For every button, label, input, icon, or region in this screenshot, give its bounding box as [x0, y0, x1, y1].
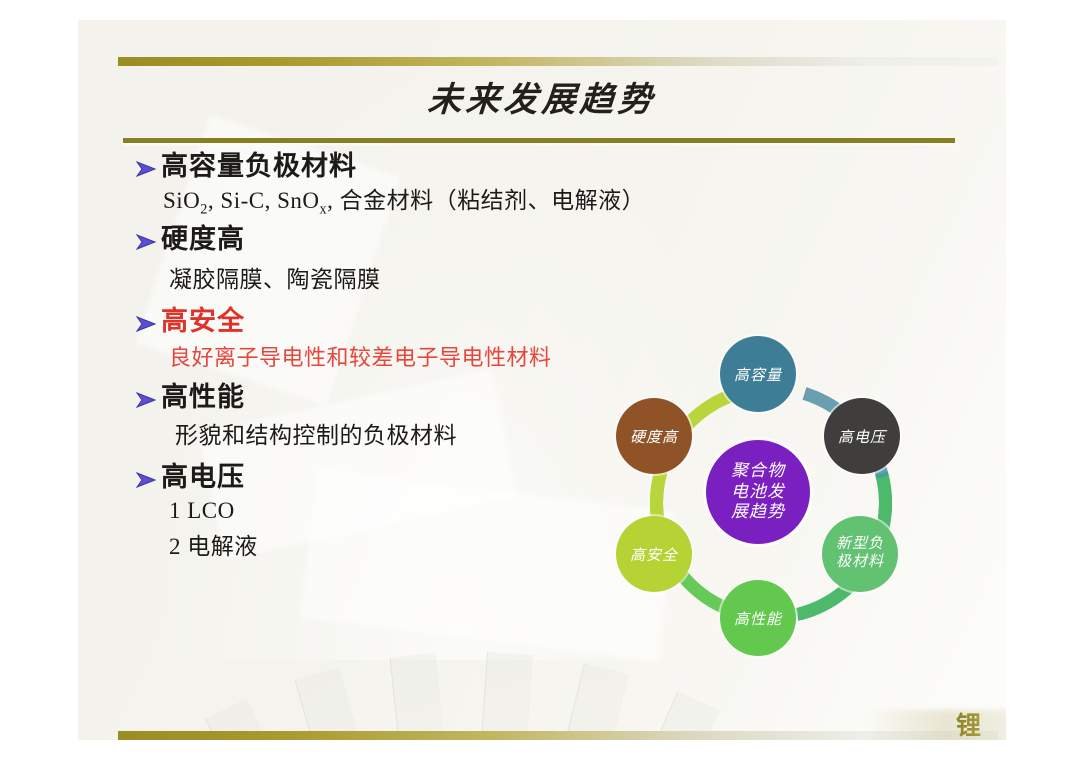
slide-canvas: 未来发展趋势 高容量负极材料 SiO2, Si-C, SnOx, 合金材料（粘结…: [78, 20, 1006, 740]
bullet-heading-highlight: 高安全: [161, 305, 245, 339]
bullet-subtext: 凝胶隔膜、陶瓷隔膜: [133, 265, 693, 295]
watermark: 锂电联盟会长: [906, 706, 1006, 740]
node-label: 新型负: [836, 536, 884, 554]
node-label: 高电压: [838, 426, 886, 447]
diagram-node-high-capacity[interactable]: 高容量: [720, 336, 796, 412]
node-label-second: 极材料: [836, 554, 884, 572]
bullet-arrow-icon: [133, 314, 161, 344]
diagram-node-high-voltage[interactable]: 高电压: [824, 398, 900, 474]
diagram-node-high-hardness[interactable]: 硬度高: [616, 398, 692, 474]
bullet-arrow-icon: [133, 470, 161, 500]
bullet-arrow-icon: [133, 232, 161, 262]
center-line-1: 聚合物: [731, 461, 785, 482]
diagram-node-high-performance[interactable]: 高性能: [720, 580, 796, 656]
node-label: 高性能: [734, 608, 782, 629]
bullet-heading: 硬度高: [161, 223, 245, 257]
formula-sub-x: x: [320, 201, 328, 217]
formula-suffix: , 合金材料（粘结剂、电解液）: [327, 188, 645, 213]
node-label: 高安全: [630, 544, 678, 565]
bullet-arrow-icon: [133, 159, 161, 189]
trend-ring-diagram: 聚合物 电池发 展趋势 高容量 高电压 新型负 极材料 高性能: [598, 340, 958, 700]
center-line-2: 电池发: [731, 482, 785, 503]
page-title: 未来发展趋势: [78, 72, 1006, 121]
bullet-heading: 高性能: [161, 381, 245, 415]
bullet-arrow-icon: [133, 390, 161, 420]
bullet-heading: 高容量负极材料: [161, 150, 357, 184]
watermark-text: 锂电联盟会长: [956, 706, 1006, 740]
bullet-heading: 高电压: [161, 461, 245, 495]
formula-mid: , Si-C, SnO: [208, 188, 320, 213]
diagram-center-node[interactable]: 聚合物 电池发 展趋势: [706, 440, 810, 544]
node-label: 硬度高: [630, 426, 678, 447]
list-item: 硬度高: [133, 223, 693, 257]
formula-sio: SiO: [163, 188, 200, 213]
slide-root: 未来发展趋势 高容量负极材料 SiO2, Si-C, SnOx, 合金材料（粘结…: [0, 0, 1080, 763]
title-divider: [123, 138, 955, 143]
center-line-3: 展趋势: [731, 502, 785, 523]
node-label: 高容量: [734, 364, 782, 385]
list-item: 高容量负极材料: [133, 150, 693, 184]
formula-sub-2: 2: [200, 201, 208, 217]
list-item: 高安全: [133, 305, 693, 339]
top-gold-bar: [118, 57, 998, 66]
bullet-subtext-formula: SiO2, Si-C, SnOx, 合金材料（粘结剂、电解液）: [133, 186, 693, 219]
diagram-node-high-safety[interactable]: 高安全: [616, 516, 692, 592]
diagram-node-new-anode-material[interactable]: 新型负 极材料: [822, 516, 898, 592]
